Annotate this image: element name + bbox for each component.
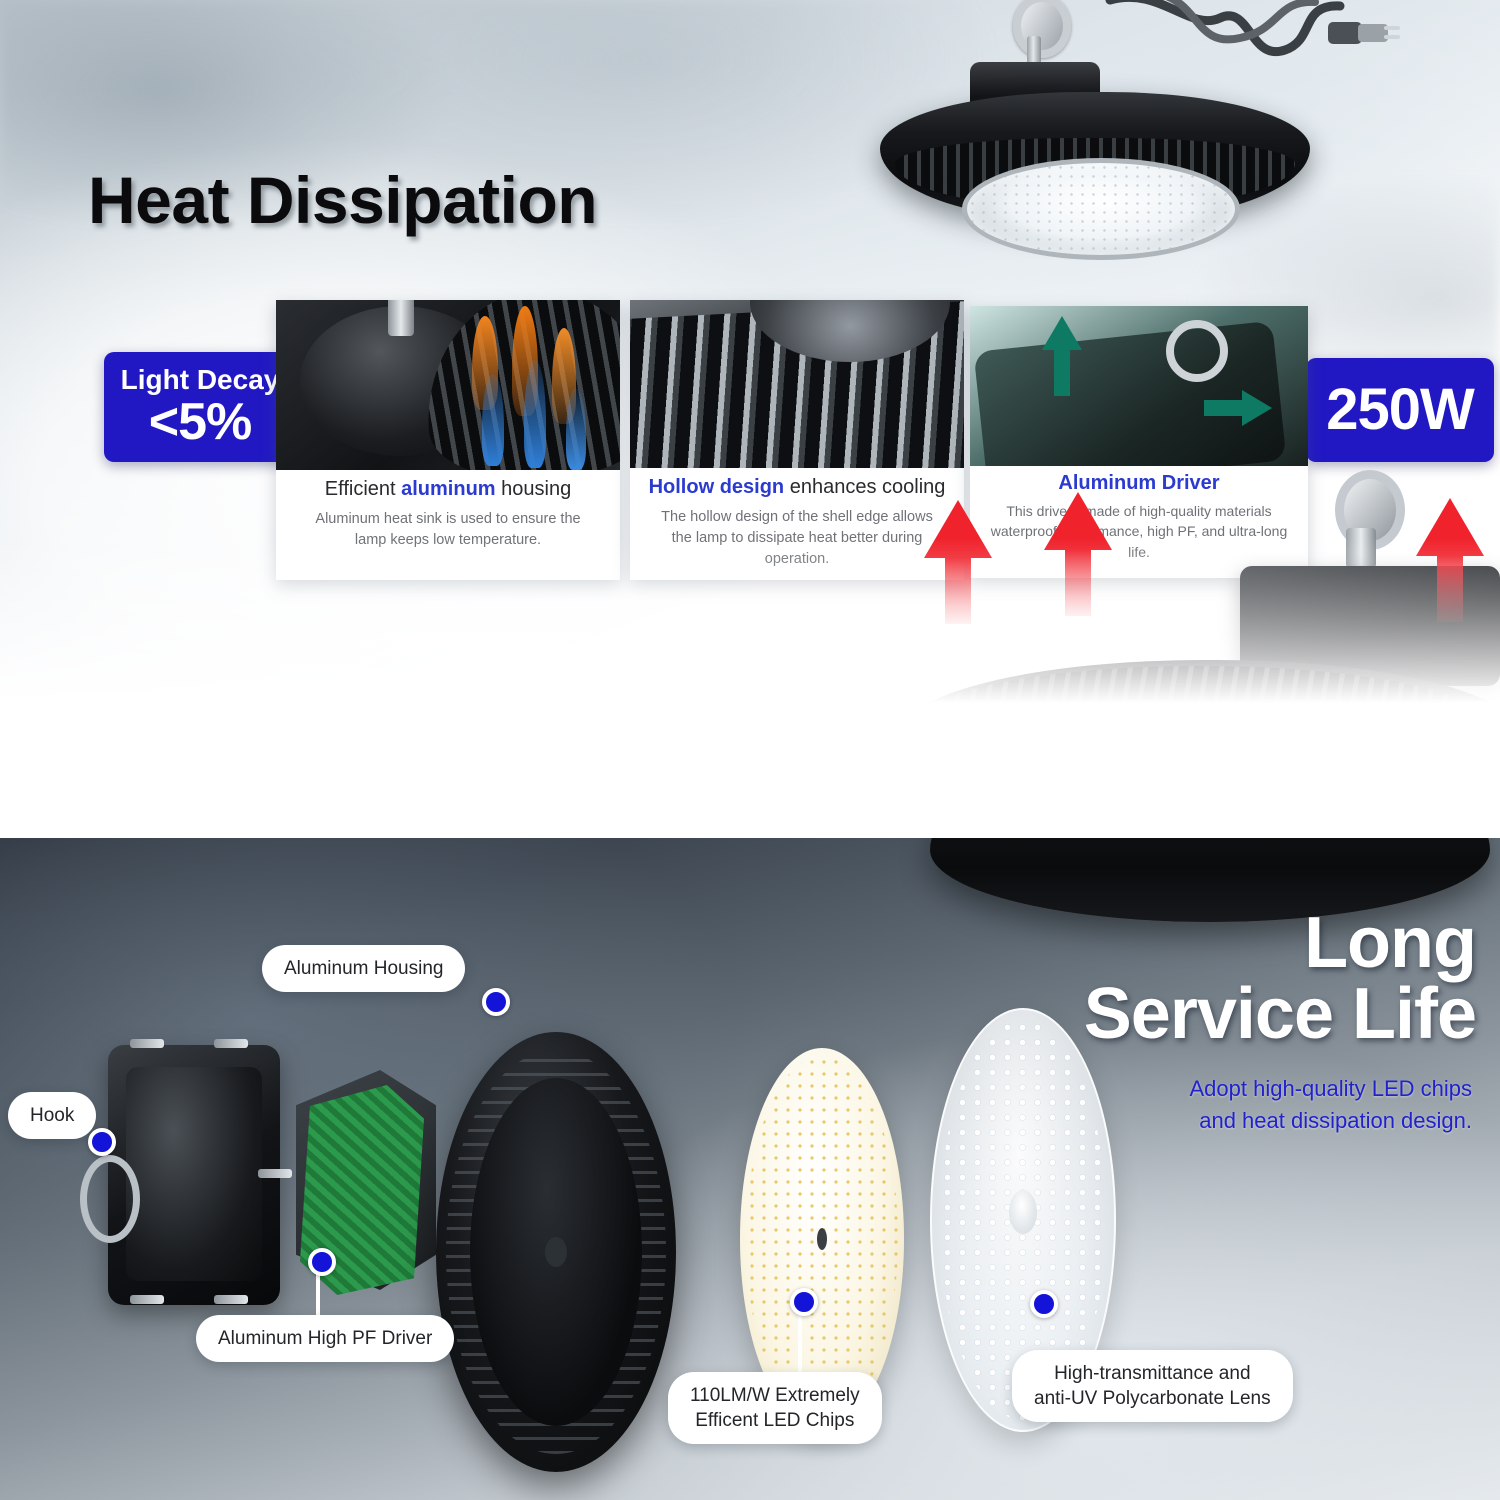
housing-pin <box>130 1039 164 1048</box>
callout-dot-lens <box>1030 1290 1058 1318</box>
light-decay-badge: Light Decay <5% <box>104 352 296 462</box>
heat-arrow-icon <box>1044 492 1112 616</box>
housing-pin <box>258 1169 292 1178</box>
housing-pin <box>214 1295 248 1304</box>
heat-arrow-icon <box>1416 498 1484 622</box>
large-lamp-hook-stem <box>1346 528 1376 568</box>
lens-center-nub <box>1009 1190 1037 1234</box>
title-line-1: Long <box>1084 908 1476 979</box>
subtitle-line-1: Adopt high-quality LED chips <box>1190 1073 1473 1105</box>
hero-highbay-lamp-image <box>770 0 1410 292</box>
card1-title-highlight: aluminum <box>401 478 495 500</box>
callout-hook: Hook <box>8 1092 96 1139</box>
card1-photo <box>276 300 620 470</box>
product-infographic: Heat Dissipation Light Decay <5% 250W <box>0 0 1500 1500</box>
lens-led-dots <box>967 163 1235 255</box>
lamp-lens <box>962 158 1240 260</box>
light-decay-label: Light Decay <box>121 366 280 394</box>
hook-stud-art <box>388 300 414 336</box>
long-service-life-subtitle: Adopt high-quality LED chips and heat di… <box>1190 1073 1473 1137</box>
wattage-value: 250W <box>1326 381 1474 439</box>
callout-lens: High-transmittance and anti-UV Polycarbo… <box>1012 1350 1293 1422</box>
card1-body: Aluminum heat sink is used to ensure the… <box>276 503 620 563</box>
callout-dot-hook <box>88 1128 116 1156</box>
card2-photo <box>630 300 964 468</box>
callout-dot-driver <box>308 1248 336 1276</box>
part-hook-housing <box>108 1045 280 1305</box>
heat-arrow-icon <box>924 500 992 624</box>
page-title: Heat Dissipation <box>88 162 597 238</box>
part-aluminum-housing <box>436 1032 676 1472</box>
card2-title-highlight: Hollow design <box>649 476 785 498</box>
subtitle-line-2: and heat dissipation design. <box>1190 1105 1473 1137</box>
hook-ring-icon <box>1013 0 1071 58</box>
card1-title: Efficient aluminum housing <box>276 470 620 503</box>
card3-photo <box>970 306 1308 466</box>
feature-card-aluminum-housing: Efficient aluminum housing Aluminum heat… <box>276 300 620 580</box>
green-arrow-up-icon <box>1042 316 1082 350</box>
callout-dot-aluminum-housing <box>482 988 510 1016</box>
led-board-center <box>817 1228 827 1250</box>
callout-led-chips: 110LM/W Extremely Efficent LED Chips <box>668 1372 882 1444</box>
green-arrow-right-tail <box>1204 400 1248 416</box>
title-line-2: Service Life <box>1084 979 1476 1050</box>
hook-ring-icon <box>80 1155 140 1243</box>
light-decay-value: <5% <box>149 396 252 448</box>
heat-dissipation-section: Heat Dissipation Light Decay <5% 250W <box>0 0 1500 838</box>
driver-body-art <box>974 321 1287 466</box>
housing-pin <box>214 1039 248 1048</box>
wattage-badge: 250W <box>1306 358 1494 462</box>
callout-driver: Aluminum High PF Driver <box>196 1315 454 1362</box>
long-service-life-title: Long Service Life <box>1084 908 1476 1049</box>
housing-pin <box>130 1295 164 1304</box>
callout-dot-led <box>790 1288 818 1316</box>
housing-center-port <box>545 1237 567 1267</box>
card1-title-suffix: housing <box>496 478 572 500</box>
hook-housing-inner <box>126 1067 262 1281</box>
green-arrow-up-tail <box>1054 348 1070 396</box>
large-lamp-heat-image <box>880 470 1500 838</box>
callout-aluminum-housing: Aluminum Housing <box>262 945 465 992</box>
driver-hook-ring-icon <box>1166 320 1228 382</box>
card1-title-prefix: Efficient <box>325 478 401 500</box>
